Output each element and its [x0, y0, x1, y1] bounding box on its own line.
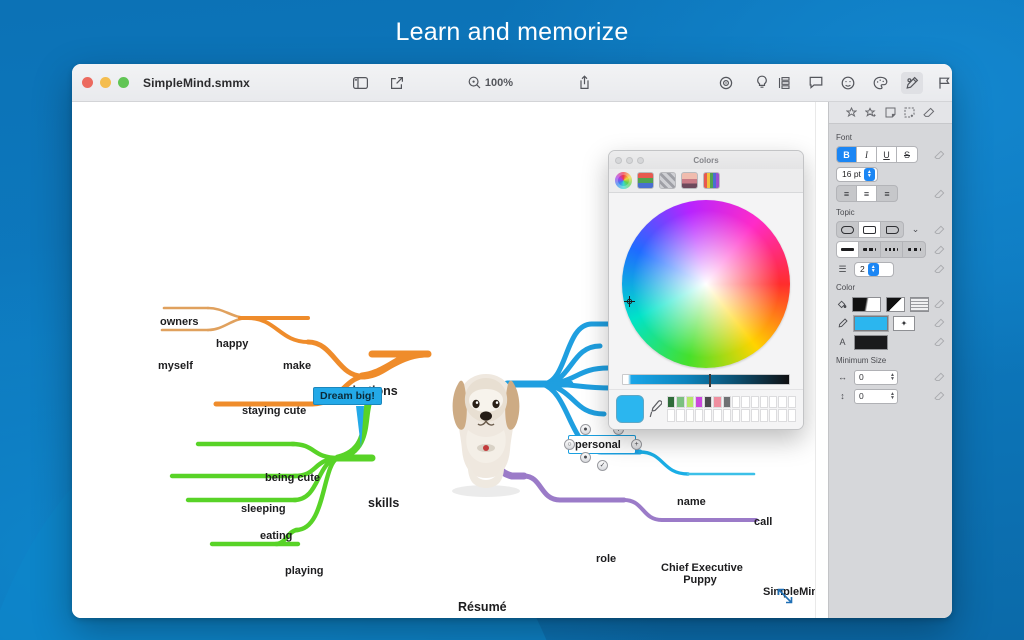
color-section-label: Color — [836, 283, 945, 292]
align-right-icon[interactable]: ≡ — [877, 186, 897, 201]
colors-panel-body — [609, 193, 803, 389]
zoom-icon — [468, 76, 481, 89]
min-width-reset-icon[interactable] — [934, 372, 945, 382]
swatch[interactable] — [778, 409, 786, 422]
text-color-swatch[interactable] — [854, 335, 888, 350]
inspector-top-icons — [829, 102, 952, 124]
toolbar-view-group — [350, 72, 408, 94]
color-palettes-icon[interactable] — [659, 172, 676, 189]
note-icon[interactable] — [805, 72, 827, 94]
node-being-cute[interactable]: being cute — [265, 472, 320, 484]
tag-shape-icon[interactable] — [881, 222, 903, 237]
swatch[interactable] — [686, 409, 694, 422]
style-brush-icon[interactable] — [901, 72, 923, 94]
inspector-controls: Font B I U S 16 pt ▲▼ — [829, 124, 952, 410]
swatch[interactable] — [732, 396, 740, 409]
bold-button[interactable]: B — [837, 147, 857, 162]
toolbar-zoom-group: 100% — [468, 76, 513, 89]
colors-panel[interactable]: Colors — [608, 150, 804, 430]
zoom-level-label: 100% — [485, 77, 513, 89]
min-height-row: ↕ 0 ▲▼ — [836, 388, 945, 404]
min-width-row: ↔ 0 ▲▼ — [836, 369, 945, 385]
node-playing[interactable]: playing — [285, 565, 324, 577]
swatch[interactable] — [723, 396, 731, 409]
border-color-swatch[interactable] — [854, 316, 888, 331]
font-style-reset-icon[interactable] — [934, 150, 945, 160]
min-height-reset-icon[interactable] — [934, 391, 945, 401]
swatch[interactable] — [741, 396, 749, 409]
chevron-down-icon[interactable]: ⌄ — [909, 224, 922, 235]
border-width-reset-icon[interactable] — [934, 264, 945, 274]
width-icon: ↔ — [836, 372, 849, 382]
fill-gradient-diagonal-icon[interactable] — [886, 297, 905, 312]
border-color-row: ✦ — [836, 315, 945, 331]
handle-right-add[interactable]: + — [631, 439, 642, 450]
alignment-row: ≡ ≡ ≡ — [836, 185, 945, 202]
align-center-icon[interactable]: ≡ — [857, 186, 877, 201]
node-owners[interactable]: owners — [160, 316, 199, 328]
traffic-lights — [82, 77, 129, 88]
pen-icon — [836, 318, 849, 328]
fill-reset-icon[interactable] — [934, 299, 945, 309]
dashed-line-icon[interactable] — [859, 242, 881, 257]
font-style-row: B I U S — [836, 146, 945, 163]
eraser-icon[interactable] — [923, 107, 935, 118]
callout-dream-big[interactable]: Dream big! — [313, 387, 382, 405]
color-wheel-crosshair — [624, 296, 635, 307]
canvas-scrollbar[interactable] — [815, 102, 828, 618]
swatch[interactable] — [667, 396, 675, 409]
node-chief-executive[interactable]: Chief Executive — [661, 562, 739, 574]
min-height-field[interactable]: 0 ▲▼ — [854, 389, 898, 404]
node-resume-center[interactable]: Résumé — [458, 600, 507, 614]
pill-shape-icon[interactable] — [837, 222, 859, 237]
close-button[interactable] — [82, 77, 93, 88]
magic-wand-icon[interactable]: ✦ — [893, 316, 915, 331]
mindmap-canvas[interactable]: owners myself happy make staying cute as… — [72, 102, 815, 618]
color-wheel-picker[interactable] — [622, 200, 790, 368]
minimum-size-label: Minimum Size — [836, 356, 945, 365]
handle-left[interactable]: ○ — [564, 439, 575, 450]
underline-button[interactable]: U — [877, 147, 897, 162]
colors-panel-tabs — [609, 169, 803, 193]
min-height-spinner[interactable]: ▲▼ — [890, 392, 895, 400]
topic-shape-row: ⌄ — [836, 221, 945, 238]
note-add-icon[interactable] — [904, 107, 915, 118]
swatch[interactable] — [695, 409, 703, 422]
colors-panel-titlebar: Colors — [609, 151, 803, 169]
minimize-button[interactable] — [100, 77, 111, 88]
swatch[interactable] — [686, 396, 694, 409]
node-role[interactable]: role — [596, 553, 616, 565]
swatch[interactable] — [760, 409, 768, 422]
page-headline: Learn and memorize — [0, 18, 1024, 47]
alignment-reset-icon[interactable] — [934, 189, 945, 199]
border-width-stepper[interactable]: ▲▼ — [868, 263, 879, 276]
swatch[interactable] — [713, 409, 721, 422]
swatch[interactable] — [778, 396, 786, 409]
document-title: SimpleMind.smmx — [143, 76, 250, 90]
font-section-label: Font — [836, 133, 945, 142]
strikethrough-button[interactable]: S — [897, 147, 917, 162]
callout-tail — [356, 406, 364, 448]
topic-shape-segmented[interactable] — [836, 221, 904, 238]
colors-minimize-button[interactable] — [626, 157, 633, 164]
swatch[interactable] — [723, 409, 731, 422]
topic-section-label: Topic — [836, 208, 945, 217]
colors-panel-traffic — [615, 157, 644, 164]
maximize-button[interactable] — [118, 77, 129, 88]
fill-gradient-white-black-icon[interactable] — [852, 297, 881, 312]
font-style-segmented[interactable]: B I U S — [836, 146, 918, 163]
node-staying-cute[interactable]: staying cute — [242, 405, 306, 417]
window-titlebar: SimpleMind.smmx 100% — [72, 64, 952, 102]
swatch[interactable] — [760, 396, 768, 409]
border-color-reset-icon[interactable] — [934, 318, 945, 328]
dash-dot-line-icon[interactable] — [903, 242, 925, 257]
swatch[interactable] — [704, 409, 712, 422]
app-window: SimpleMind.smmx 100% — [72, 64, 952, 618]
share-icon[interactable] — [573, 72, 595, 94]
node-sleeping[interactable]: sleeping — [241, 503, 286, 515]
swatch[interactable] — [667, 409, 675, 422]
image-palettes-icon[interactable] — [681, 172, 698, 189]
line-style-segmented[interactable] — [836, 241, 926, 258]
topic-line-style-row — [836, 241, 945, 258]
min-width-value: 0 — [859, 372, 864, 382]
node-puppy[interactable]: Puppy — [661, 574, 739, 586]
node-skills[interactable]: skills — [368, 496, 399, 510]
star-icon[interactable] — [846, 107, 857, 118]
text-color-reset-icon[interactable] — [934, 337, 945, 347]
color-wheel-icon[interactable] — [615, 172, 632, 189]
node-make[interactable]: make — [283, 360, 311, 372]
zoom-control[interactable]: 100% — [468, 76, 513, 89]
swatch[interactable] — [676, 409, 684, 422]
height-icon: ↕ — [836, 391, 849, 401]
crayons-icon[interactable] — [703, 172, 720, 189]
selected-color-well[interactable] — [616, 395, 644, 423]
font-size-value: 16 pt — [842, 169, 861, 179]
paint-bucket-icon — [836, 299, 847, 309]
target-icon[interactable] — [715, 72, 737, 94]
solid-line-icon[interactable] — [837, 242, 859, 257]
border-width-field[interactable]: 2 ▲▼ — [854, 262, 894, 277]
swatch[interactable] — [732, 409, 740, 422]
colors-close-button[interactable] — [615, 157, 622, 164]
handle-bottom[interactable]: ● — [580, 452, 591, 463]
align-left-icon[interactable]: ≡ — [837, 186, 857, 201]
fill-texture-icon[interactable] — [910, 297, 929, 312]
selected-node-label: personal — [575, 439, 621, 451]
min-width-spinner[interactable]: ▲▼ — [890, 373, 895, 381]
font-size-field[interactable]: 16 pt ▲▼ — [836, 167, 878, 182]
note-icon[interactable] — [885, 107, 896, 118]
topic-shape-reset-icon[interactable] — [934, 225, 945, 235]
emoji-icon[interactable] — [837, 72, 859, 94]
node-happy[interactable]: happy — [216, 338, 248, 350]
toolbar-mid-group — [715, 72, 773, 94]
node-eating[interactable]: eating — [260, 530, 292, 542]
selected-node-personal[interactable]: personal — [568, 435, 636, 454]
toolbar-share-group — [573, 72, 595, 94]
outline-icon[interactable] — [773, 72, 795, 94]
alignment-segmented[interactable]: ≡ ≡ ≡ — [836, 185, 898, 202]
present-icon[interactable] — [386, 72, 408, 94]
handle-top-left[interactable]: ● — [580, 424, 591, 435]
font-size-stepper[interactable]: ▲▼ — [864, 168, 875, 181]
resize-grip-icon[interactable] — [775, 586, 795, 606]
font-size-row: 16 pt ▲▼ — [836, 166, 945, 182]
palette-icon[interactable] — [869, 72, 891, 94]
color-sliders-icon[interactable] — [637, 172, 654, 189]
color-swatch-grid[interactable] — [667, 396, 796, 422]
line-style-reset-icon[interactable] — [934, 245, 945, 255]
min-width-field[interactable]: 0 ▲▼ — [854, 370, 898, 385]
italic-button[interactable]: I — [857, 147, 877, 162]
node-name[interactable]: name — [677, 496, 706, 508]
swatch[interactable] — [788, 396, 796, 409]
eyedropper-icon[interactable] — [649, 399, 662, 419]
swatch[interactable] — [769, 409, 777, 422]
colors-panel-footer — [609, 389, 803, 429]
lightbulb-icon[interactable] — [751, 72, 773, 94]
window-body: owners myself happy make staying cute as… — [72, 102, 952, 618]
sidebar-icon[interactable] — [350, 72, 372, 94]
min-height-value: 0 — [859, 391, 864, 401]
node-call[interactable]: call — [754, 516, 772, 528]
node-myself[interactable]: myself — [158, 360, 193, 372]
inspector-panel: Font B I U S 16 pt ▲▼ — [828, 102, 952, 618]
border-width-row: ☰ 2 ▲▼ — [836, 261, 945, 277]
border-width-icon: ☰ — [836, 264, 849, 275]
center-image-dog[interactable] — [434, 360, 538, 498]
swatch[interactable] — [695, 396, 703, 409]
swatch[interactable] — [788, 409, 796, 422]
swatch[interactable] — [676, 396, 684, 409]
brightness-slider[interactable] — [622, 374, 790, 385]
toolbar-right-group — [773, 72, 952, 94]
border-width-value: 2 — [860, 264, 865, 274]
text-color-icon: A — [836, 337, 849, 347]
text-color-row: A — [836, 334, 945, 350]
swatch[interactable] — [741, 409, 749, 422]
colors-maximize-button[interactable] — [637, 157, 644, 164]
dotted-line-icon[interactable] — [881, 242, 903, 257]
swatch[interactable] — [713, 396, 721, 409]
swatch[interactable] — [751, 409, 759, 422]
flag-icon[interactable] — [933, 72, 952, 94]
brightness-slider-knob[interactable] — [709, 374, 711, 387]
swatch[interactable] — [704, 396, 712, 409]
star-sparkle-icon[interactable] — [865, 107, 877, 118]
swatch[interactable] — [751, 396, 759, 409]
rounded-rect-shape-icon[interactable] — [859, 222, 881, 237]
swatch[interactable] — [769, 396, 777, 409]
handle-check[interactable]: ✓ — [597, 460, 608, 471]
fill-color-row — [836, 296, 945, 312]
